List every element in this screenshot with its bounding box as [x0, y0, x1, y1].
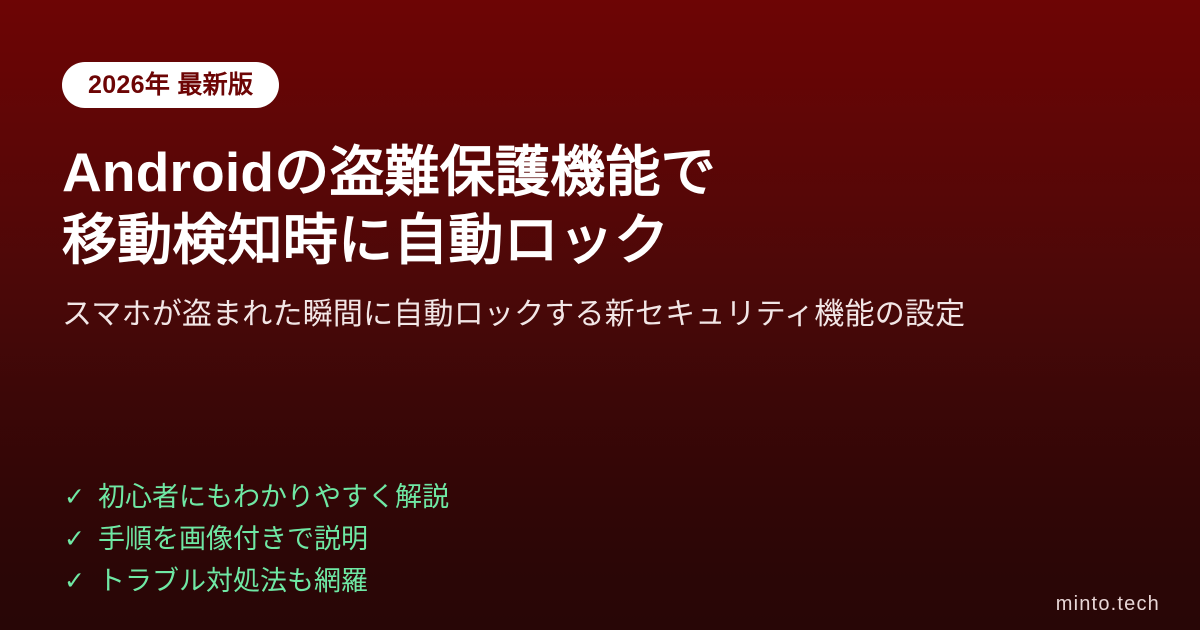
- version-badge: 2026年 最新版: [62, 62, 279, 108]
- page-title: Androidの盗難保護機能で 移動検知時に自動ロック: [62, 138, 716, 274]
- check-icon: ✓: [64, 569, 98, 594]
- feature-list: ✓ 初心者にもわかりやすく解説 ✓ 手順を画像付きで説明 ✓ トラブル対処法も網…: [64, 476, 449, 602]
- badge-row: 2026年 最新版: [62, 62, 279, 108]
- page-subtitle: スマホが盗まれた瞬間に自動ロックする新セキュリティ機能の設定: [62, 294, 965, 336]
- feature-label: 初心者にもわかりやすく解説: [98, 484, 449, 511]
- page-title-line-1: Androidの盗難保護機能で: [62, 138, 716, 206]
- list-item: ✓ トラブル対処法も網羅: [64, 560, 449, 602]
- feature-label: トラブル対処法も網羅: [98, 568, 368, 595]
- og-card: 2026年 最新版 Androidの盗難保護機能で 移動検知時に自動ロック スマ…: [0, 0, 1200, 630]
- list-item: ✓ 初心者にもわかりやすく解説: [64, 476, 449, 518]
- check-icon: ✓: [64, 485, 98, 510]
- check-icon: ✓: [64, 527, 98, 552]
- list-item: ✓ 手順を画像付きで説明: [64, 518, 449, 560]
- feature-label: 手順を画像付きで説明: [98, 526, 368, 553]
- site-name: minto.tech: [1056, 594, 1160, 614]
- page-title-line-2: 移動検知時に自動ロック: [62, 206, 716, 274]
